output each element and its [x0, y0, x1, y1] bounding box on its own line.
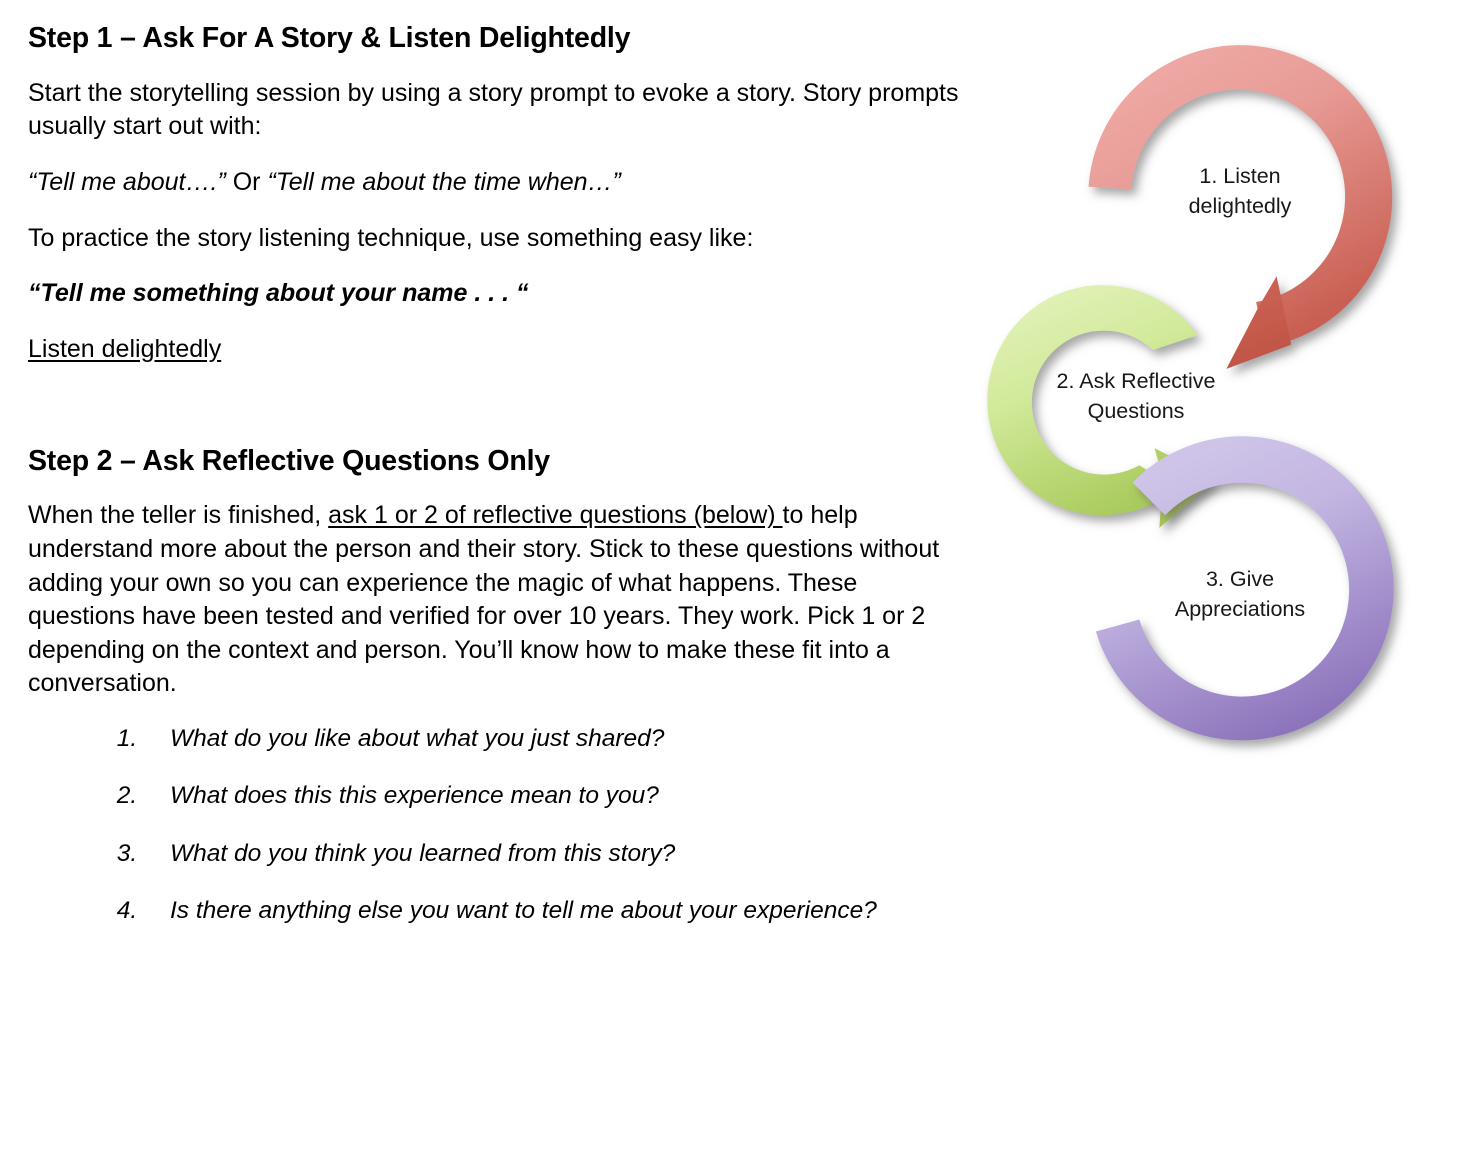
practice-prompt-text: “Tell me something about your name . . .…: [28, 279, 529, 307]
prompt-quote-1: “Tell me about….”: [28, 168, 226, 196]
listen-delightedly-link[interactable]: Listen delightedly: [28, 335, 221, 363]
document-body: Step 1 – Ask For A Story & Listen Deligh…: [0, 0, 1440, 952]
page-root: 1. Listen delightedly 2. Ask Reflective …: [0, 0, 1462, 1172]
list-item: Is there anything else you want to tell …: [144, 895, 1440, 926]
list-item: What does this this experience mean to y…: [144, 780, 1440, 811]
list-item: What do you think you learned from this …: [144, 838, 1440, 869]
diagram-text-wrap-spacer: [970, 22, 1440, 762]
step-2-paragraph-tail: to help understand more about the person…: [28, 501, 939, 697]
reflective-questions-reference[interactable]: ask 1 or 2 of reflective questions (belo…: [328, 501, 782, 529]
prompt-quote-2: “Tell me about the time when…”: [267, 168, 620, 196]
step-2-paragraph-lead: When the teller is finished,: [28, 501, 328, 529]
prompt-quote-conjunction: Or: [226, 168, 268, 196]
